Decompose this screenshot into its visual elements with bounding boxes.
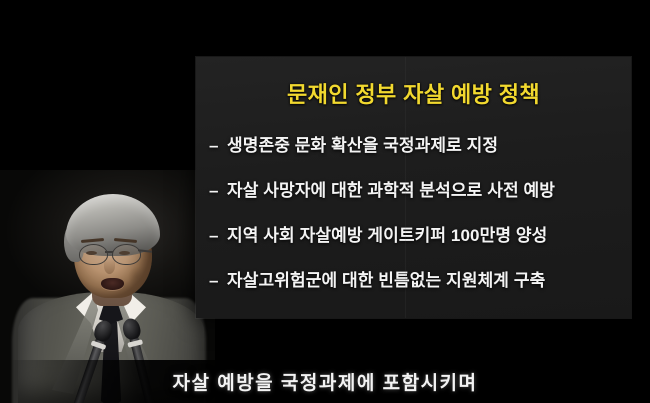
cheek-shadow (128, 266, 146, 288)
microphone-band (127, 339, 143, 347)
slide-bullet-item: – 생명존중 문화 확산을 국정과제로 지정 (196, 131, 631, 176)
slide-bullet-text: 자살고위험군에 대한 빈틈없는 지원체계 구축 (227, 266, 545, 291)
eyeglasses-lens-right (112, 244, 141, 265)
slide-title: 문재인 정부 자살 예방 정책 (196, 77, 631, 109)
slide-bullet-item: – 자살고위험군에 대한 빈틈없는 지원체계 구축 (196, 266, 631, 311)
slide-bullet-text: 자살 사망자에 대한 과학적 분석으로 사전 예방 (227, 176, 555, 201)
bullet-dash-icon: – (209, 226, 221, 246)
eyeglasses-bridge (105, 251, 113, 253)
bullet-dash-icon: – (209, 181, 221, 201)
presentation-slide-panel: 문재인 정부 자살 예방 정책 – 생명존중 문화 확산을 국정과제로 지정 –… (196, 57, 631, 318)
bullet-dash-icon: – (209, 271, 221, 291)
bullet-dash-icon: – (209, 136, 221, 156)
broadcast-frame: 문재인 정부 자살 예방 정책 – 생명존중 문화 확산을 국정과제로 지정 –… (0, 0, 650, 403)
slide-bullet-text: 지역 사회 자살예방 게이트키퍼 100만명 양성 (227, 221, 547, 246)
slide-bullet-item: – 지역 사회 자살예방 게이트키퍼 100만명 양성 (196, 221, 631, 266)
caption-band: 자살 예방을 국정과제에 포함시키며 (0, 360, 650, 403)
slide-bullet-list: – 생명존중 문화 확산을 국정과제로 지정 – 자살 사망자에 대한 과학적 … (196, 131, 631, 311)
mouth-open (101, 278, 124, 290)
slide-bullet-text: 생명존중 문화 확산을 국정과제로 지정 (227, 131, 498, 156)
nose (104, 258, 115, 274)
slide-bullet-item: – 자살 사망자에 대한 과학적 분석으로 사전 예방 (196, 176, 631, 221)
caption-text: 자살 예방을 국정과제에 포함시키며 (0, 368, 650, 395)
